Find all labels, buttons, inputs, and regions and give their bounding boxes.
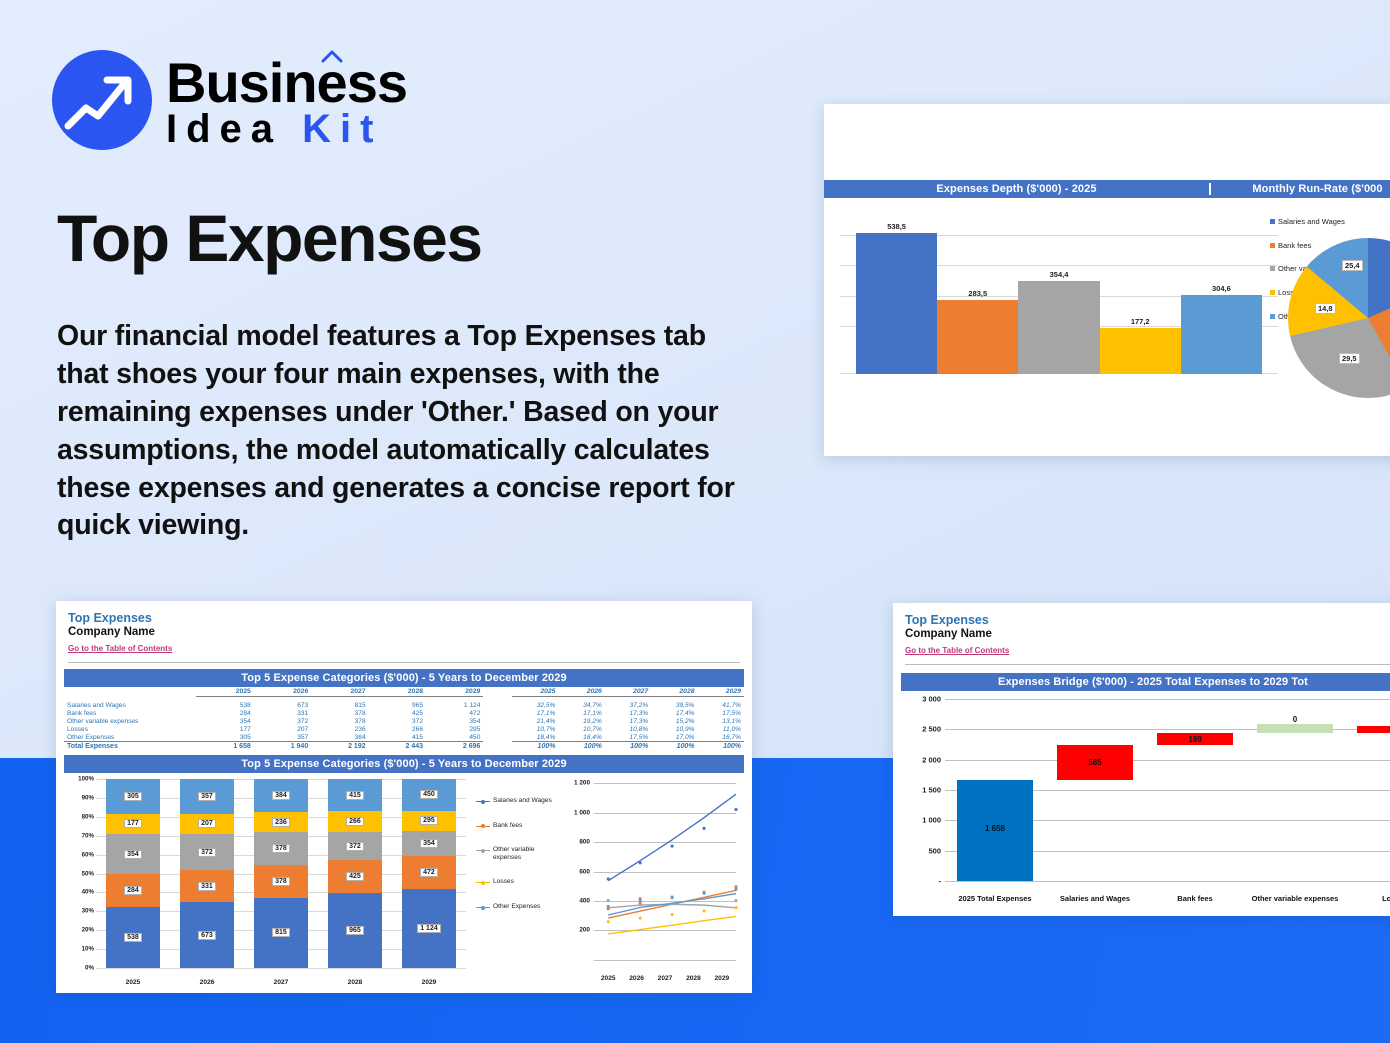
line-chart-legend: Salaries and Wages Bank fees Other varia… <box>476 797 562 927</box>
segment-label: 357 <box>198 792 216 801</box>
bridge-column: 585 <box>1045 699 1145 881</box>
x-tick: 2025 <box>96 979 170 986</box>
bar-losses <box>1100 328 1181 374</box>
row-label: Salaries and Wages <box>64 701 196 709</box>
pie-label: 29,5 <box>1339 353 1360 364</box>
cell: 266 <box>369 725 426 733</box>
segment-label: 207 <box>198 819 216 828</box>
legend-item: Losses <box>476 878 562 886</box>
pct-col-2026: 2026 <box>558 687 604 696</box>
cell-pct: 34,7% <box>558 701 604 709</box>
legend-swatch-icon <box>1270 219 1275 224</box>
bridge-column: 0 <box>1245 699 1345 881</box>
bar-value-label: 354,4 <box>1050 270 1069 279</box>
x-tick: 2028 <box>318 979 392 986</box>
cell: 295 <box>426 725 483 733</box>
cell: 354 <box>426 717 483 725</box>
total-cell: 2 443 <box>369 742 426 751</box>
legend-swatch-icon <box>1270 243 1275 248</box>
total-cell-pct: 100% <box>605 742 651 751</box>
bridge-x-axis: 2025 Total Expenses Salaries and Wages B… <box>945 894 1390 903</box>
y-tick: 100% <box>78 776 94 783</box>
table-title-bar: Top 5 Expense Categories ($'000) - 5 Yea… <box>64 669 744 687</box>
table-of-contents-link[interactable]: Go to the Table of Contents <box>68 644 172 653</box>
y-tick: 1 000 <box>574 809 590 816</box>
y-tick: 2 500 <box>922 725 941 734</box>
bar-value-label: 538,5 <box>887 222 906 231</box>
y-tick: 20% <box>82 927 94 934</box>
cell: 538 <box>196 701 253 709</box>
legend-item: Bank fees <box>476 822 562 830</box>
bar-chart-bars: 538,5 283,5 354,4 177,2 304,6 <box>856 216 1262 374</box>
cell: 673 <box>254 701 311 709</box>
cell: 450 <box>426 733 483 742</box>
stacked-column: 357 207 372 331 673 <box>170 779 244 968</box>
screenshot-card-expenses-depth: Expenses Depth ($'000) - 2025 Monthly Ru… <box>824 104 1390 456</box>
y-tick: 0% <box>85 965 94 972</box>
logo-word-business: Business <box>166 55 407 111</box>
y-tick: 800 <box>579 838 590 845</box>
x-tick: 2027 <box>651 975 679 982</box>
y-tick: 400 <box>579 898 590 905</box>
y-tick: 40% <box>82 889 94 896</box>
bar-column: 177,2 <box>1100 216 1181 374</box>
cell-pct: 10,8% <box>605 725 651 733</box>
cell-pct: 18,4% <box>558 733 604 742</box>
segment-label: 472 <box>420 868 438 877</box>
cell-pct: 15,2% <box>651 717 697 725</box>
cell-pct: 37,2% <box>605 701 651 709</box>
segment-label: 384 <box>272 791 290 800</box>
cell-pct: 11,0% <box>698 725 744 733</box>
bar-other-expenses <box>1181 295 1262 374</box>
pct-col-2029: 2029 <box>698 687 744 696</box>
col-2026: 2026 <box>254 687 311 696</box>
pct-col-2025: 2025 <box>512 687 558 696</box>
stacked-x-axis: 2025 2026 2027 2028 2029 <box>96 979 466 986</box>
segment-label: 305 <box>124 792 142 801</box>
bridge-bar-increase: 189 <box>1157 733 1233 744</box>
bridge-column: 1 <box>1345 699 1390 881</box>
bar-other-variable <box>1018 281 1099 374</box>
y-tick: 2 000 <box>922 755 941 764</box>
row-label: Bank fees <box>64 709 196 717</box>
page-description: Our financial model features a Top Expen… <box>57 318 757 545</box>
bar-column: 354,4 <box>1018 216 1099 374</box>
stacked-chart-title-bar: Top 5 Expense Categories ($'000) - 5 Yea… <box>64 755 744 773</box>
bridge-plot-area: 1 658 585 189 0 1 <box>945 699 1390 881</box>
cell-pct: 18,4% <box>512 733 558 742</box>
bar-salaries <box>856 233 937 374</box>
bridge-bar-increase: 585 <box>1057 745 1133 780</box>
sheet-company-name: Company Name <box>905 628 1390 640</box>
cell: 357 <box>254 733 311 742</box>
cell: 472 <box>426 709 483 717</box>
line-plot-area <box>594 783 736 960</box>
y-tick: 1 500 <box>922 786 941 795</box>
cell: 1 124 <box>426 701 483 709</box>
cell-pct: 16,7% <box>698 733 744 742</box>
bar-column: 283,5 <box>937 216 1018 374</box>
legend-label: Salaries and Wages <box>493 797 552 805</box>
table-row: Other Expenses 305 357 384 415 450 18,4%… <box>64 733 744 742</box>
bridge-column: 1 658 <box>945 699 1045 881</box>
bar-value-label: 304,6 <box>1212 284 1231 293</box>
pie-slices <box>1288 238 1390 398</box>
x-tick: 2028 <box>679 975 707 982</box>
legend-item: Salaries and Wages <box>476 797 562 805</box>
y-tick: 50% <box>82 870 94 877</box>
chart-title-bar-top: Expenses Depth ($'000) - 2025 Monthly Ru… <box>824 180 1390 198</box>
legend-label: Bank fees <box>493 822 522 830</box>
y-tick: 60% <box>82 851 94 858</box>
stacked-column: 450 295 354 472 1 124 <box>392 779 466 968</box>
cell: 354 <box>196 717 253 725</box>
legend-label: Other Expenses <box>493 903 540 911</box>
segment-label: 177 <box>124 819 142 828</box>
pie-label: 14,8 <box>1315 303 1336 314</box>
segment-label: 372 <box>346 842 364 851</box>
logo-business-text: Business <box>166 51 407 114</box>
cell: 372 <box>254 717 311 725</box>
legend-item: Salaries and Wages <box>1270 218 1390 227</box>
cell-pct: 32,5% <box>512 701 558 709</box>
sheet-header: Top Expenses Company Name Go to the Tabl… <box>893 603 1390 658</box>
cell: 236 <box>311 725 368 733</box>
cell: 425 <box>369 709 426 717</box>
table-row: Losses 177 207 236 266 295 10,7% 10,7% 1… <box>64 725 744 733</box>
monthly-run-rate-pie-chart: 25,4 14,8 29,5 2 <box>1288 238 1390 418</box>
row-label: Losses <box>64 725 196 733</box>
table-row: Salaries and Wages 538 673 815 965 1 124… <box>64 701 744 709</box>
logo-word-ideakit: Idea Kit <box>166 109 407 149</box>
y-tick: 30% <box>82 908 94 915</box>
bar-column: 538,5 <box>856 216 937 374</box>
segment-label: 266 <box>346 817 364 826</box>
stacked-column: 305 177 354 284 538 <box>96 779 170 968</box>
expense-trend-line-chart: Salaries and Wages Bank fees Other varia… <box>472 775 744 990</box>
cell-pct: 17,3% <box>605 709 651 717</box>
segment-label: 354 <box>420 839 438 848</box>
cell-pct: 10,7% <box>512 725 558 733</box>
bridge-column: 189 <box>1145 699 1245 881</box>
divider <box>905 664 1390 665</box>
legend-label: Other variable expenses <box>493 846 562 861</box>
total-cell-pct: 100% <box>651 742 697 751</box>
y-tick: 3 000 <box>922 695 941 704</box>
logo-chart-arrow-icon <box>52 50 152 150</box>
y-tick: 70% <box>82 832 94 839</box>
screenshot-card-top5-categories: Top Expenses Company Name Go to the Tabl… <box>56 601 752 993</box>
cell: 177 <box>196 725 253 733</box>
page-title: Top Expenses <box>57 205 482 271</box>
segment-label: 378 <box>272 877 290 886</box>
top5-expenses-table: 2025 2026 2027 2028 2029 2025 2026 2027 … <box>64 687 744 750</box>
legend-swatch-icon <box>1270 266 1275 271</box>
segment-label: 331 <box>198 882 216 891</box>
cell: 384 <box>311 733 368 742</box>
segment-label: 372 <box>198 848 216 857</box>
bar-column: 304,6 <box>1181 216 1262 374</box>
stacked-y-axis: 0% 10% 20% 30% 40% 50% 60% 70% 80% 90% 1… <box>66 779 94 968</box>
cell-pct: 41,7% <box>698 701 744 709</box>
col-2029: 2029 <box>426 687 483 696</box>
total-cell: 1 940 <box>254 742 311 751</box>
bar-value-label: 283,5 <box>968 289 987 298</box>
pie-chart-title: Monthly Run-Rate ($'000 <box>1209 183 1390 195</box>
total-cell-pct: 100% <box>698 742 744 751</box>
bar-value-label: 177,2 <box>1131 317 1150 326</box>
legend-swatch-icon <box>1270 290 1275 295</box>
col-2025: 2025 <box>196 687 253 696</box>
row-label: Other variable expenses <box>64 717 196 725</box>
bridge-bar-increase: 1 <box>1357 726 1390 733</box>
cell-pct: 17,1% <box>558 709 604 717</box>
legend-item: Other Expenses <box>476 903 562 911</box>
cell: 372 <box>369 717 426 725</box>
segment-label: 965 <box>346 926 364 935</box>
segment-label: 284 <box>124 886 142 895</box>
table-of-contents-link[interactable]: Go to the Table of Contents <box>905 646 1009 655</box>
segment-label: 425 <box>346 872 364 881</box>
total-cell-pct: 100% <box>558 742 604 751</box>
segment-label: 236 <box>272 818 290 827</box>
cell: 378 <box>311 709 368 717</box>
total-cell: 1 658 <box>196 742 253 751</box>
total-cell: 2 192 <box>311 742 368 751</box>
segment-label: 450 <box>420 790 438 799</box>
sheet-company-name: Company Name <box>68 626 752 638</box>
total-cell: 2 696 <box>426 742 483 751</box>
x-tick: 2025 Total Expenses <box>945 894 1045 903</box>
cell-pct: 17,5% <box>605 733 651 742</box>
row-label: Other Expenses <box>64 733 196 742</box>
sheet-title: Top Expenses <box>905 613 1390 627</box>
cell-pct: 10,7% <box>558 725 604 733</box>
expenses-bridge-waterfall-chart: - 500 1 000 1 500 2 000 2 500 3 000 1 65… <box>899 695 1390 907</box>
y-tick: 200 <box>579 927 590 934</box>
bar-bank-fees <box>937 300 1018 374</box>
y-tick: 90% <box>82 794 94 801</box>
stacked-plot-area: 305 177 354 284 538 357 207 372 331 673 <box>96 779 466 968</box>
pct-col-2028: 2028 <box>651 687 697 696</box>
cell-pct: 10,9% <box>651 725 697 733</box>
cell-pct: 17,3% <box>605 717 651 725</box>
sheet-header: Top Expenses Company Name Go to the Tabl… <box>56 601 752 656</box>
cell-pct: 21,4% <box>512 717 558 725</box>
pie-label: 25,4 <box>1342 260 1363 271</box>
line-y-axis: 200 400 600 800 1 000 1 200 <box>564 783 590 960</box>
col-2027: 2027 <box>311 687 368 696</box>
table-header-row: 2025 2026 2027 2028 2029 2025 2026 2027 … <box>64 687 744 696</box>
x-tick: 2026 <box>622 975 650 982</box>
cell-pct: 17,5% <box>698 709 744 717</box>
segment-label: 378 <box>272 844 290 853</box>
segment-label: 354 <box>124 850 142 859</box>
pct-col-2027: 2027 <box>605 687 651 696</box>
cell-pct: 17,1% <box>512 709 558 717</box>
sheet-title: Top Expenses <box>68 611 752 625</box>
x-tick: 2025 <box>594 975 622 982</box>
cell: 305 <box>196 733 253 742</box>
bridge-bar-total: 1 658 <box>957 780 1033 881</box>
cell-pct: 19,2% <box>558 717 604 725</box>
total-label: Total Expenses <box>64 742 196 751</box>
stacked-column-chart: 0% 10% 20% 30% 40% 50% 60% 70% 80% 90% 1… <box>64 775 472 990</box>
stacked-column: 384 236 378 378 815 <box>244 779 318 968</box>
cell: 415 <box>369 733 426 742</box>
segment-label: 538 <box>124 933 142 942</box>
cell: 331 <box>254 709 311 717</box>
charts-row: 0% 10% 20% 30% 40% 50% 60% 70% 80% 90% 1… <box>64 775 744 990</box>
total-cell-pct: 100% <box>512 742 558 751</box>
brand-logo: Business Idea Kit <box>52 50 407 150</box>
col-2028: 2028 <box>369 687 426 696</box>
segment-label: 815 <box>272 928 290 937</box>
bridge-bar-zero: 0 <box>1257 724 1333 733</box>
expenses-depth-bar-chart: 538,5 283,5 354,4 177,2 304,6 Salaries a… <box>840 204 1390 390</box>
cell: 284 <box>196 709 253 717</box>
line-x-axis: 2025 2026 2027 2028 2029 <box>594 975 736 982</box>
y-tick: 600 <box>579 868 590 875</box>
cell-pct: 13,1% <box>698 717 744 725</box>
segment-label: 415 <box>346 791 364 800</box>
bar-chart-title: Expenses Depth ($'000) - 2025 <box>824 183 1209 195</box>
stacked-column: 415 266 372 425 965 <box>318 779 392 968</box>
spacer <box>483 687 512 696</box>
y-tick: 1 200 <box>574 780 590 787</box>
cell: 378 <box>311 717 368 725</box>
x-tick: 2026 <box>170 979 244 986</box>
y-tick: 1 000 <box>922 816 941 825</box>
table-row: Other variable expenses 354 372 378 372 … <box>64 717 744 725</box>
cell: 207 <box>254 725 311 733</box>
cell-pct: 39,5% <box>651 701 697 709</box>
x-tick: Losses <box>1345 894 1390 903</box>
y-tick: 80% <box>82 813 94 820</box>
bridge-chart-title-bar: Expenses Bridge ($'000) - 2025 Total Exp… <box>901 673 1390 691</box>
segment-label: 295 <box>420 816 438 825</box>
legend-item: Other variable expenses <box>476 846 562 861</box>
legend-swatch-icon <box>1270 314 1275 319</box>
x-tick: 2029 <box>392 979 466 986</box>
legend-label: Losses <box>493 878 514 886</box>
table-row: Bank fees 284 331 378 425 472 17,1% 17,1… <box>64 709 744 717</box>
x-tick: 2029 <box>708 975 736 982</box>
y-tick: 500 <box>928 846 941 855</box>
x-tick: Bank fees <box>1145 894 1245 903</box>
cell: 965 <box>369 701 426 709</box>
segment-label: 673 <box>198 931 216 940</box>
y-tick: - <box>939 877 942 886</box>
y-tick: 10% <box>82 946 94 953</box>
x-tick: Salaries and Wages <box>1045 894 1145 903</box>
legend-label: Salaries and Wages <box>1278 218 1345 227</box>
x-tick: Other variable expenses <box>1245 894 1345 903</box>
cell-pct: 17,0% <box>651 733 697 742</box>
x-tick: 2027 <box>244 979 318 986</box>
cell-pct: 17,4% <box>651 709 697 717</box>
header-blank <box>64 687 196 696</box>
table-total-row: Total Expenses 1 658 1 940 2 192 2 443 2… <box>64 742 744 751</box>
screenshot-card-expenses-bridge: Top Expenses Company Name Go to the Tabl… <box>893 603 1390 916</box>
divider <box>68 662 740 663</box>
bridge-y-axis: - 500 1 000 1 500 2 000 2 500 3 000 <box>899 699 943 881</box>
cell: 815 <box>311 701 368 709</box>
